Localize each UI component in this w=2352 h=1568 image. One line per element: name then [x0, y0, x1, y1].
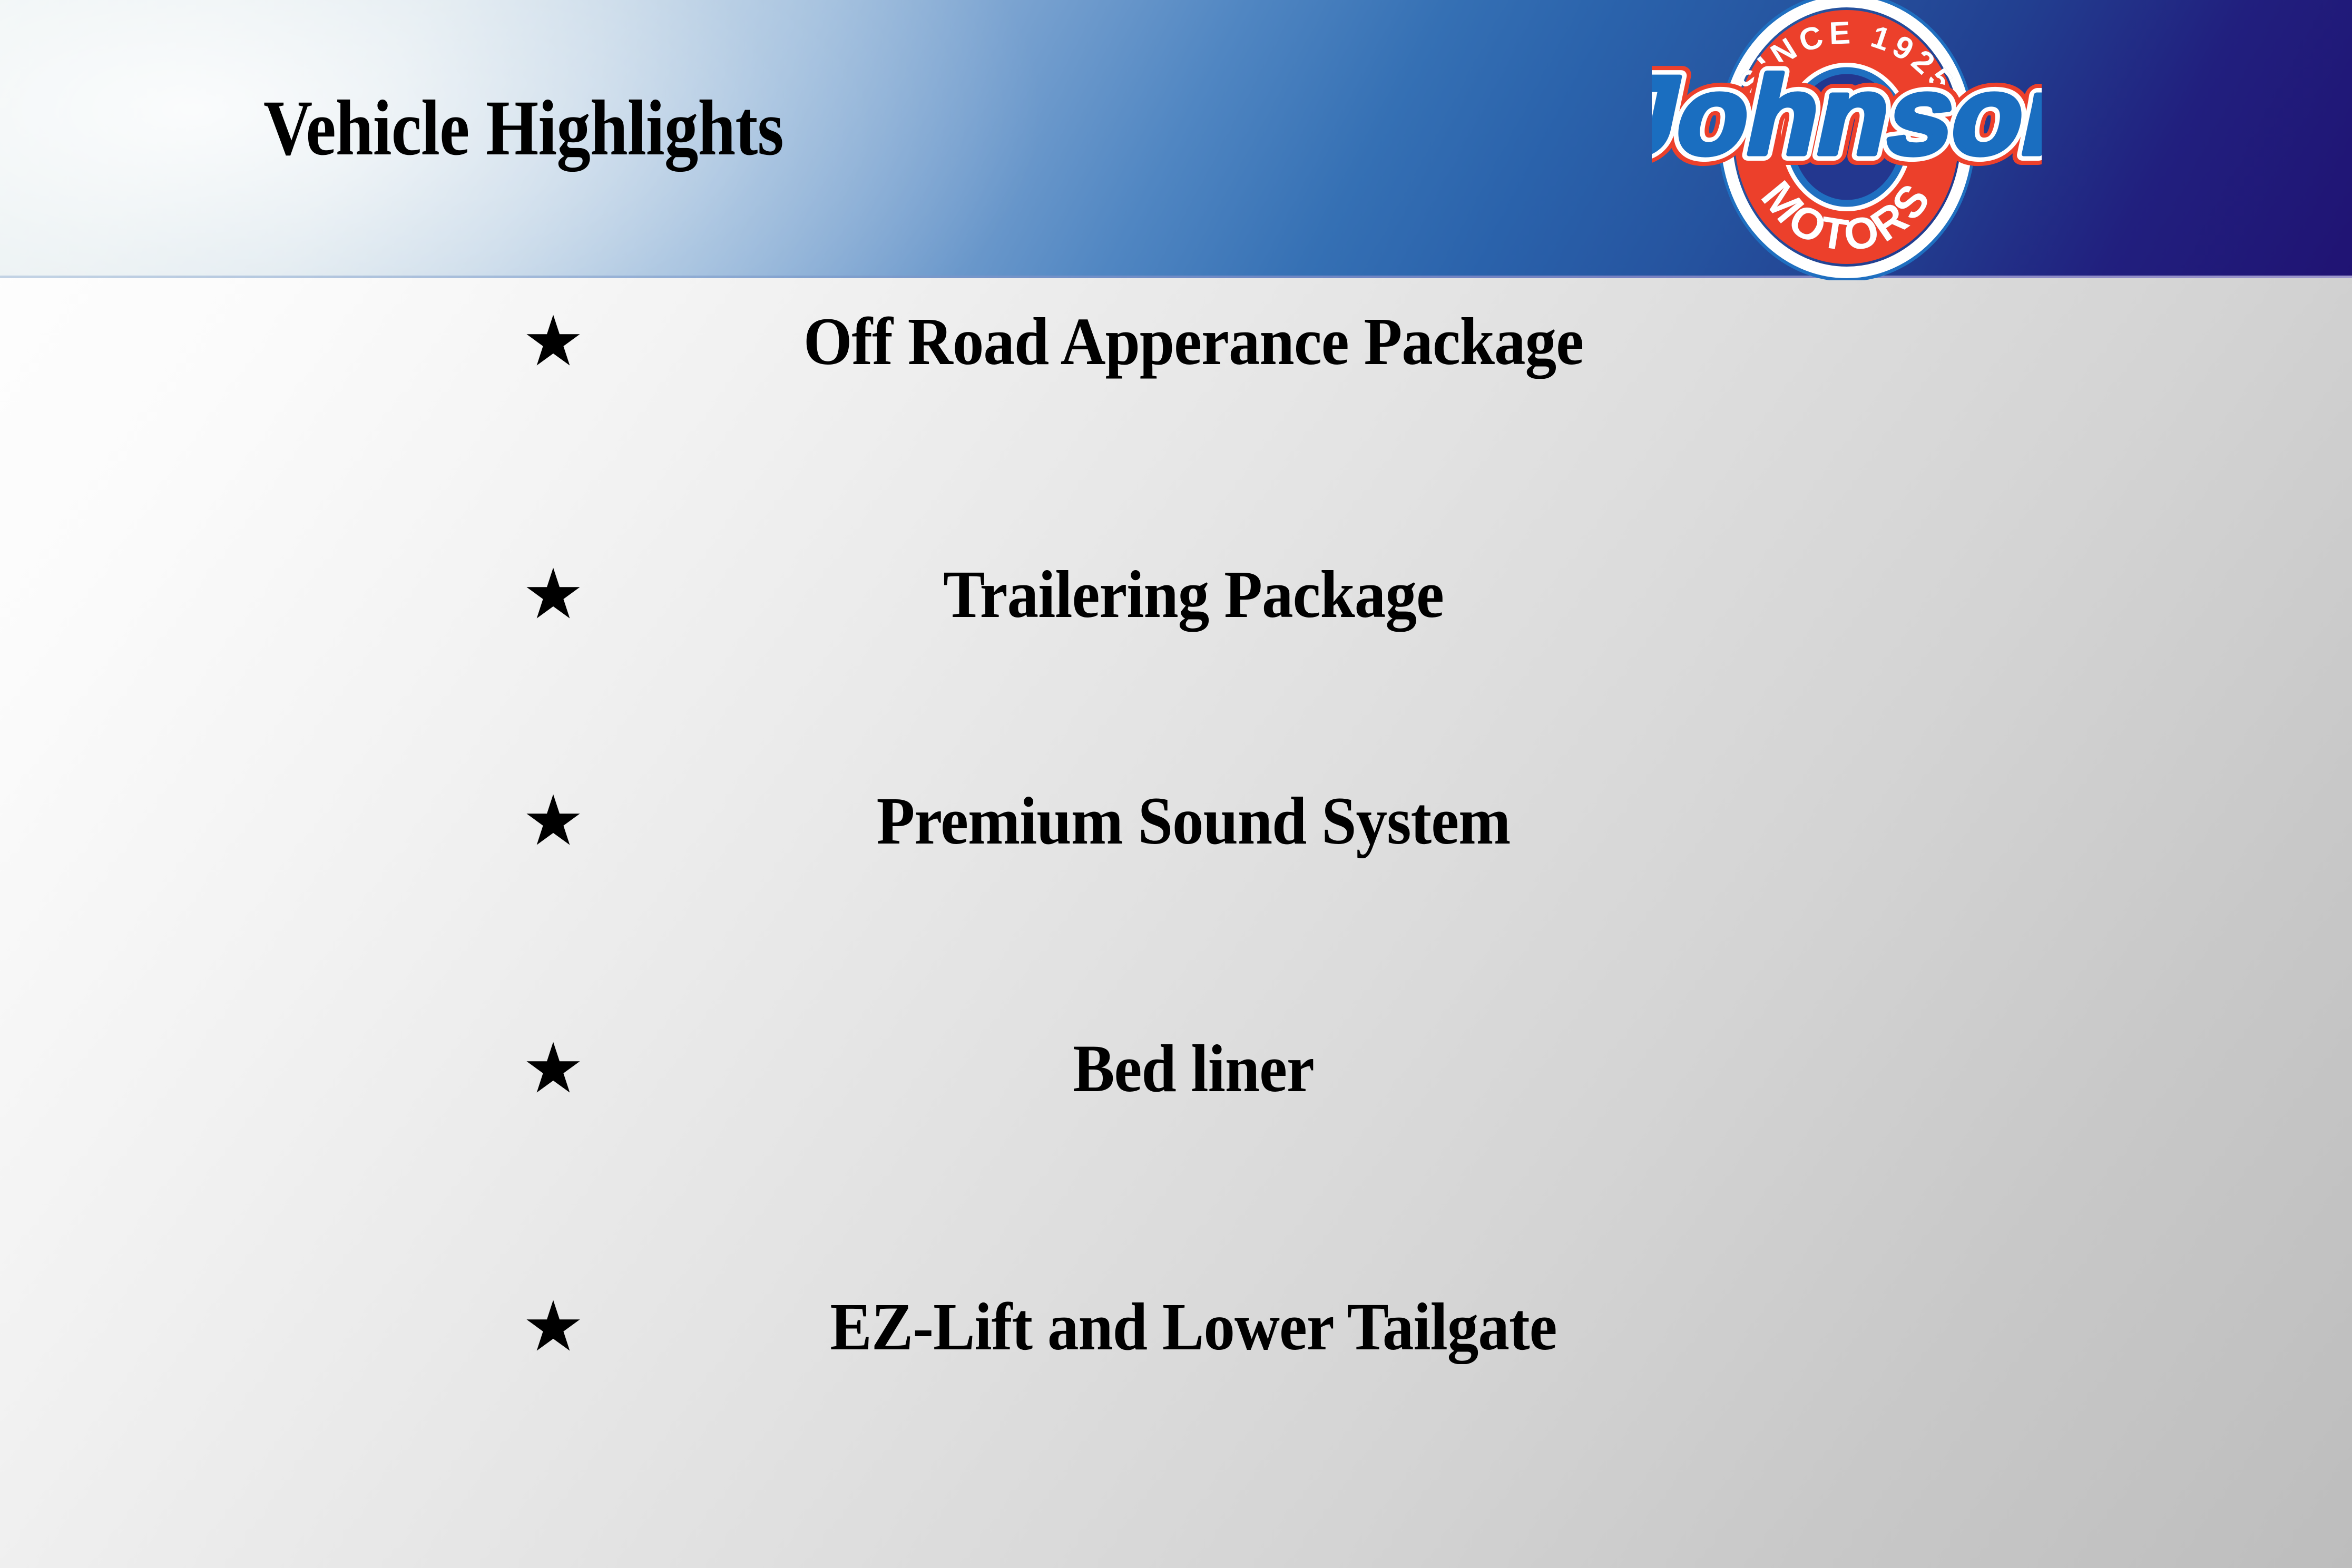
highlight-label: EZ-Lift and Lower Tailgate [647, 1293, 1740, 1360]
star-bullet-icon: ★ [519, 307, 587, 376]
star-bullet-icon: ★ [519, 1034, 587, 1103]
vehicle-highlights-list: ★ Off Road Apperance Package ★ Trailerin… [0, 278, 2352, 1568]
page-title: Vehicle Highlights [263, 89, 783, 168]
svg-text:Johnson: Johnson [1652, 53, 2042, 178]
star-bullet-icon: ★ [519, 786, 587, 856]
star-bullet-icon: ★ [519, 1292, 587, 1361]
johnson-motors-logo: SINCE 1925 SINCE 1925 MOTORS MOTORS John… [1652, 0, 2042, 280]
highlight-label: Premium Sound System [647, 787, 1740, 855]
star-bullet-icon: ★ [519, 560, 587, 629]
highlight-label: Bed liner [647, 1035, 1740, 1102]
highlight-label: Off Road Apperance Package [647, 308, 1740, 375]
highlight-label: Trailering Package [647, 561, 1740, 628]
slide-canvas: Vehicle Highlights SINCE 1925 [0, 0, 2352, 1568]
logo-johnson-wordmark: Johnson Johnson Johnson [1652, 53, 2042, 178]
